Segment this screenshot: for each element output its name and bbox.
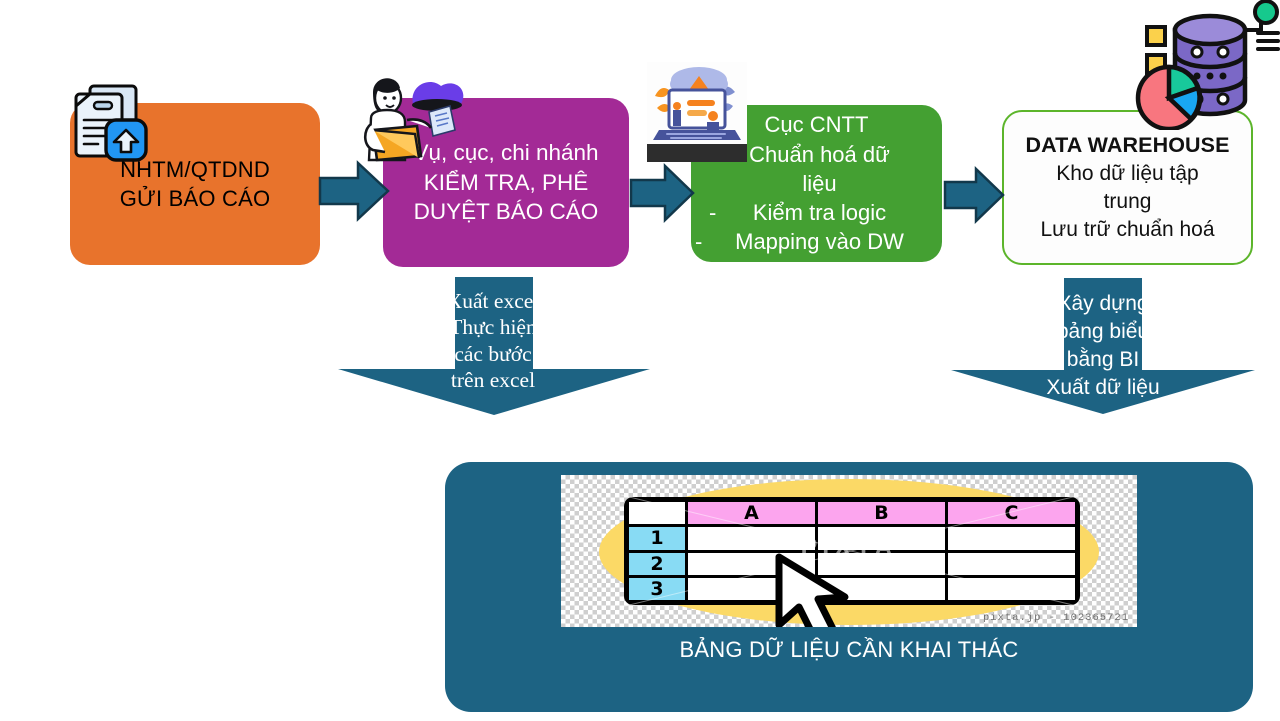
bi-label-line-2: bảng biểu [1057, 320, 1149, 343]
excel-label-line-1: Xuất excel [447, 289, 540, 313]
excel-label-line-4: trên excel [451, 368, 535, 392]
cntt-bullet-1-text: Chuẩn hoá dữ [749, 142, 890, 167]
cntt-bullet-2-text: Kiểm tra logic [753, 200, 886, 225]
cntt-bullet-2: - Kiểm tra logic [691, 198, 942, 227]
step-box-data-warehouse[interactable]: DATA WAREHOUSE Kho dữ liệu tập trung Lưu… [1002, 110, 1253, 265]
dw-line-2: trung [1004, 188, 1251, 216]
excel-label-line-2: Thực hiện [449, 315, 536, 339]
excel-label-line-3: các bước [454, 342, 531, 366]
sheet-corner-cell [629, 502, 685, 524]
cntt-bullet-3: - Mapping vào DW [691, 227, 942, 256]
send-report-line-2: GỬI BÁO CÁO [70, 184, 320, 213]
bi-label-line-1: Xây dựng [1057, 292, 1148, 315]
dw-line-3: Lưu trữ chuẩn hoá [1004, 216, 1251, 244]
cntt-bullet-1-text-cont: liệu [802, 171, 836, 196]
sheet-cell-c3 [948, 578, 1075, 600]
down-arrow-excel-label: Xuất excel Thực hiện các bước trên excel [414, 288, 572, 394]
sheet-row-header-2: 2 [629, 553, 685, 575]
bottom-panel-data-table[interactable]: A B C 1 2 3 PIXTA [445, 462, 1253, 712]
down-arrow-bi-label: Xây dựng bảng biểu bằng BI Xuất dữ liệu [1023, 290, 1183, 402]
sheet-col-header-c: C [948, 502, 1075, 524]
cntt-bullet-3-text: Mapping vào DW [735, 229, 904, 254]
cntt-bullet-1-wrap: liệu [691, 169, 942, 198]
bullet-dash-3: - [695, 227, 702, 256]
bi-label-line-3: bằng BI [1067, 348, 1139, 371]
pixta-watermark: pixta.jp - 102365721 [983, 612, 1129, 624]
connector-arrow-2 [629, 163, 695, 223]
connector-arrow-1 [318, 160, 390, 222]
sheet-cell-a1 [688, 527, 815, 549]
sheet-cell-c1 [948, 527, 1075, 549]
sheet-col-header-a: A [688, 502, 815, 524]
laptop-cloud-upload-illustration [647, 62, 747, 162]
dw-line-1: Kho dữ liệu tập [1004, 160, 1251, 188]
person-folder-cloud-illustration [355, 68, 467, 168]
bottom-panel-caption: BẢNG DỮ LIỆU CẦN KHAI THÁC [680, 637, 1019, 663]
database-pie-chart-illustration [1133, 0, 1280, 130]
connector-arrow-3 [943, 166, 1005, 224]
spreadsheet-illustration: A B C 1 2 3 PIXTA [561, 475, 1137, 627]
document-upload-icon [66, 80, 158, 166]
review-line-2: KIỂM TRA, PHÊ [383, 168, 629, 198]
sheet-cell-c2 [948, 553, 1075, 575]
bullet-dash-2: - [709, 198, 716, 227]
sheet-col-header-b: B [818, 502, 945, 524]
review-line-3: DUYỆT BÁO CÁO [383, 197, 629, 227]
bi-label-line-4: Xuất dữ liệu [1046, 376, 1159, 399]
mouse-pointer-icon [775, 553, 895, 627]
dw-title: DATA WAREHOUSE [1004, 131, 1251, 160]
diagram-canvas: Xuất excel Thực hiện các bước trên excel… [0, 0, 1280, 721]
sheet-row-header-1: 1 [629, 527, 685, 549]
sheet-row-header-3: 3 [629, 578, 685, 600]
